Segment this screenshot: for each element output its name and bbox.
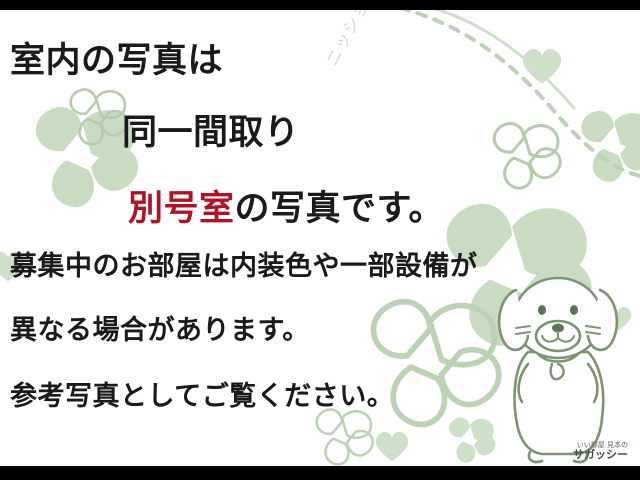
notice-line-6: 参考写真としてご覧ください。 bbox=[10, 374, 394, 413]
letterbox-top bbox=[0, 0, 640, 10]
notice-line-2: 同一間取り bbox=[122, 104, 300, 155]
notice-image: いい部屋 見本の サガッシー ニッショー 室内の写真は 同一間取り 別号室の写真… bbox=[0, 0, 640, 480]
dog-mascot bbox=[482, 256, 632, 466]
letterbox-bottom bbox=[0, 466, 640, 480]
brand-caption: いい部屋 見本の サガッシー bbox=[573, 441, 628, 462]
notice-line-4: 募集中のお部屋は内装色や一部設備が bbox=[10, 244, 478, 283]
notice-line-5: 異なる場合があります。 bbox=[10, 308, 310, 347]
brand-name: サガッシー bbox=[573, 449, 628, 462]
notice-line-3: 別号室の写真です。 bbox=[128, 180, 444, 231]
notice-line-3-highlight: 別号室 bbox=[128, 189, 235, 229]
notice-line-3-suffix: の写真です。 bbox=[235, 189, 445, 229]
notice-line-1: 室内の写真は bbox=[10, 32, 223, 83]
